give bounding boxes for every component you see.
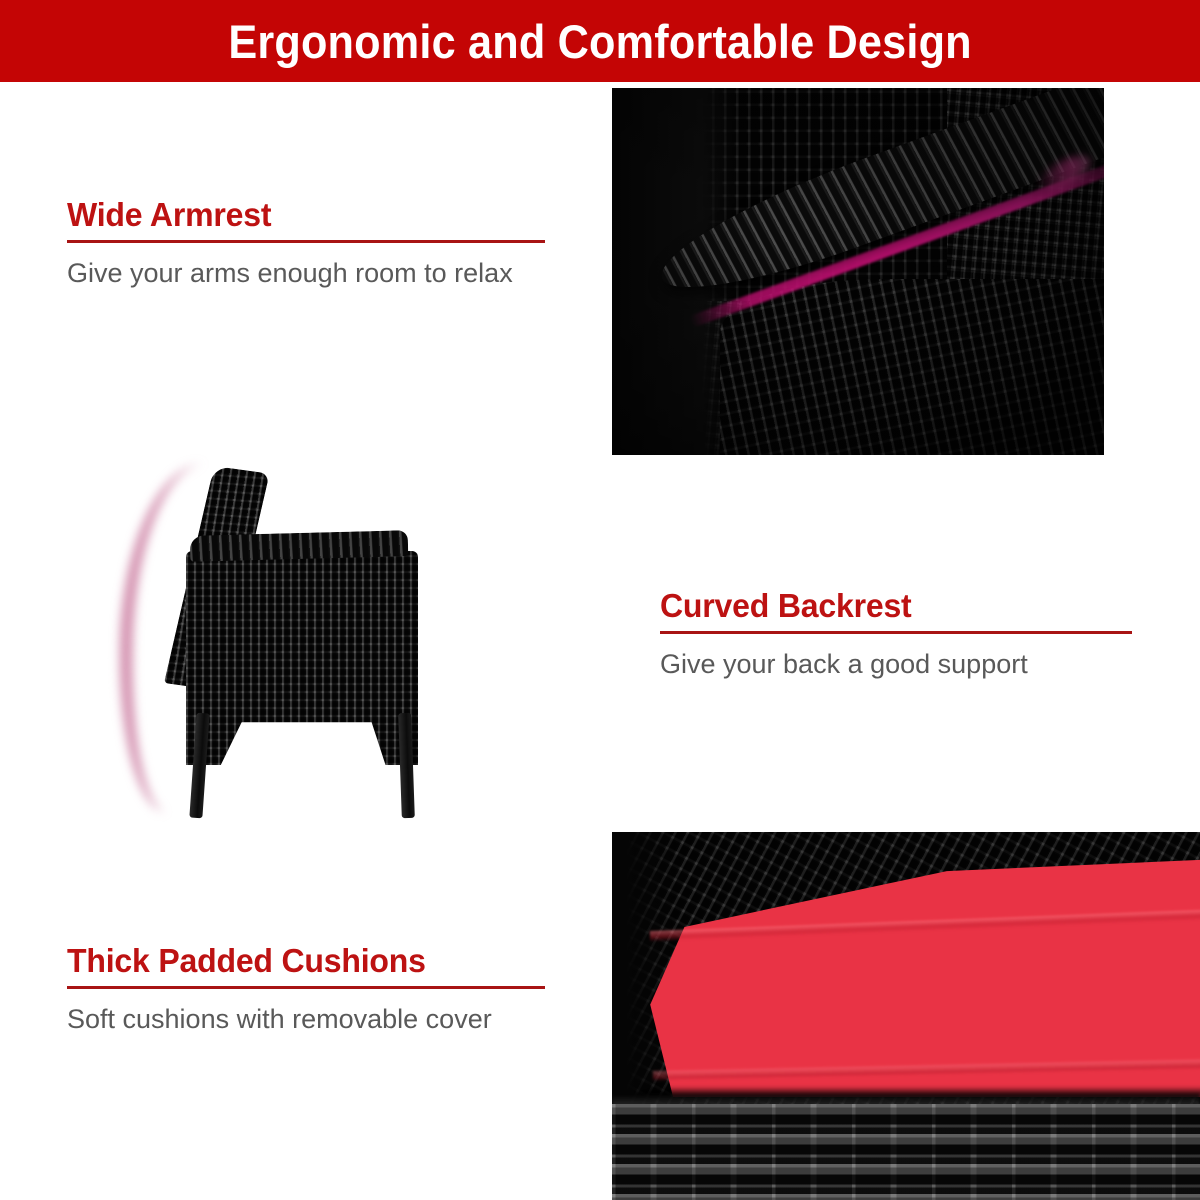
feature-divider [67,986,545,989]
feature-body-curved-backrest: Give your back a good support [660,645,1132,683]
product-photo-armrest-closeup [612,88,1104,455]
feature-body-wide-armrest: Give your arms enough room to relax [67,254,545,292]
header-banner: Ergonomic and Comfortable Design [0,0,1200,82]
product-photo-cushion-closeup [612,832,1200,1200]
photo-vignette [612,88,1104,455]
product-photo-chair-profile [128,455,458,825]
feature-divider [660,631,1132,634]
feature-heading-thick-padded-cushions: Thick Padded Cushions [67,943,531,979]
chair-seat-body [186,551,418,765]
feature-block-wide-armrest: Wide Armrest Give your arms enough room … [67,197,545,292]
feature-heading-wide-armrest: Wide Armrest [67,197,531,233]
wicker-base-rail [612,1104,1200,1200]
feature-heading-curved-backrest: Curved Backrest [660,588,1118,624]
page-title: Ergonomic and Comfortable Design [228,14,971,69]
feature-divider [67,240,545,243]
feature-body-thick-padded-cushions: Soft cushions with removable cover [67,1000,545,1038]
feature-block-thick-padded-cushions: Thick Padded Cushions Soft cushions with… [67,943,545,1038]
feature-block-curved-backrest: Curved Backrest Give your back a good su… [660,588,1132,683]
